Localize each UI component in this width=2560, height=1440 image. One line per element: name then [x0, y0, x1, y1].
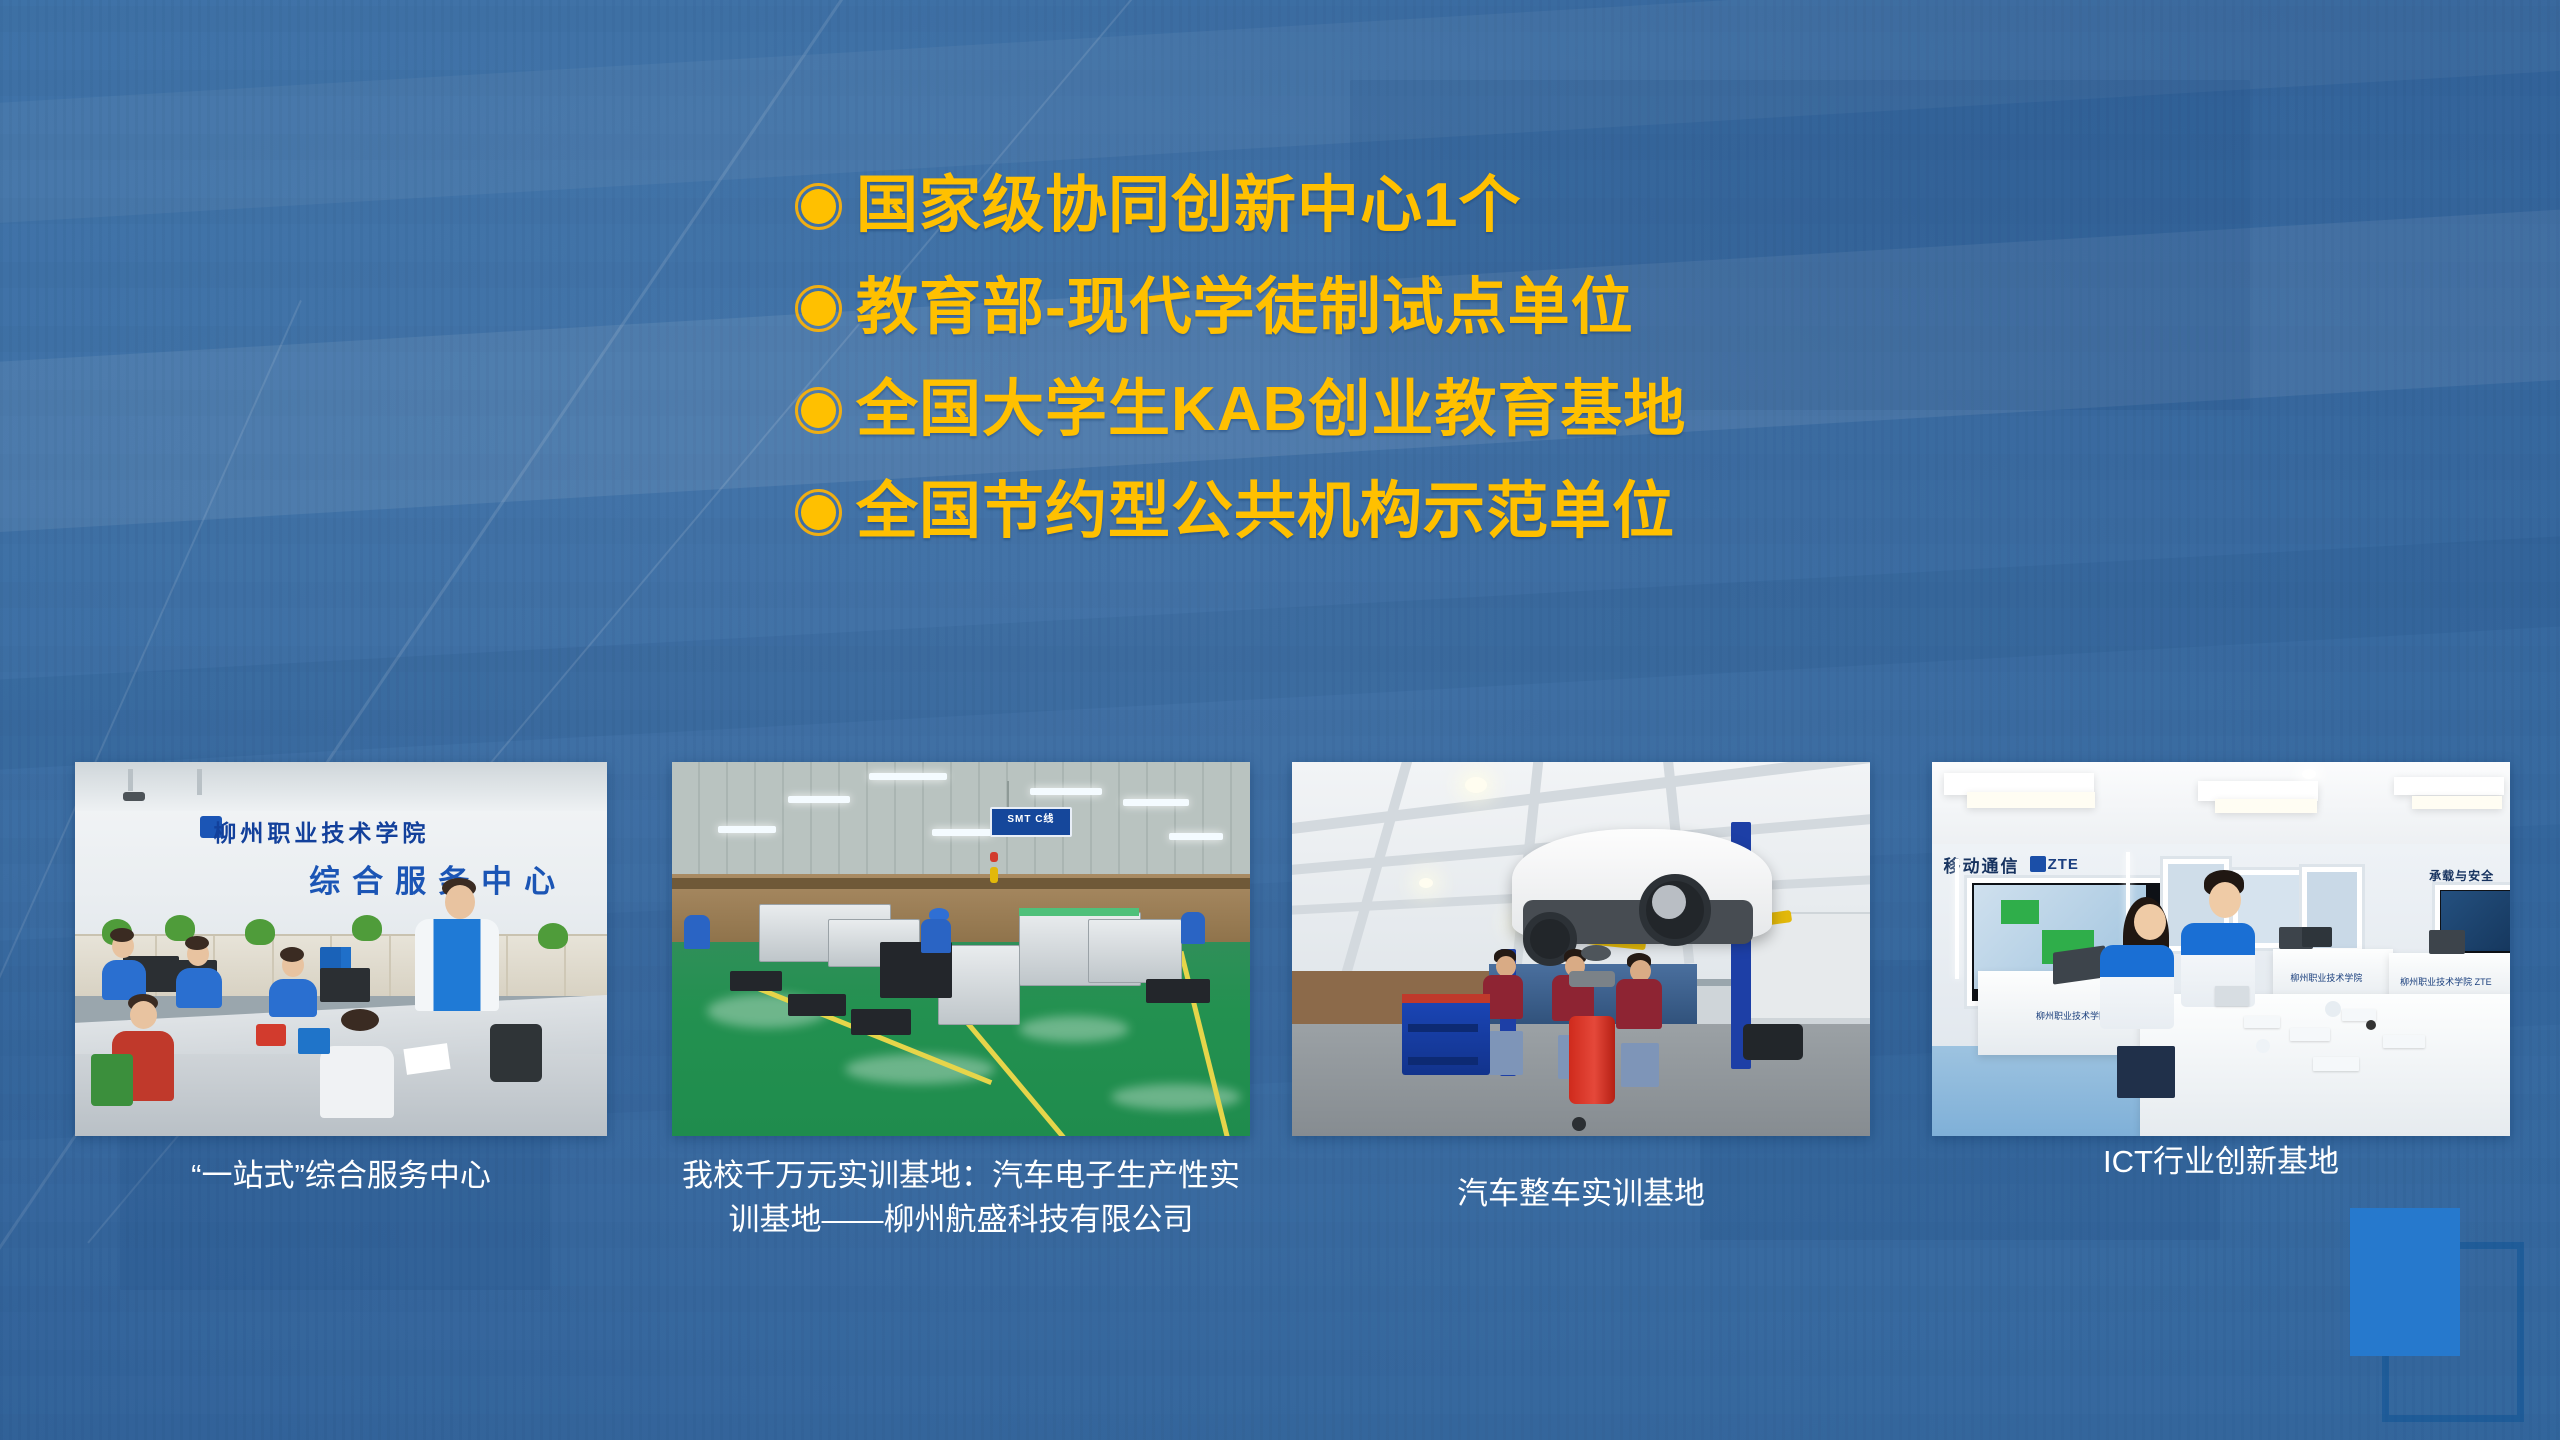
headline-item-4: 全国节约型公共机构示范单位	[795, 461, 2295, 563]
photo-ict-base: 移动通信 ZTE 承载与安全 柳州职业技术学院 ZTE	[1932, 762, 2510, 1136]
headline-item-1: 国家级协同创新中心1个	[795, 155, 2295, 257]
gallery-item-ict-base: 移动通信 ZTE 承载与安全 柳州职业技术学院 ZTE	[1932, 762, 2510, 1136]
ring-bullet-icon	[795, 387, 842, 434]
ring-bullet-icon	[795, 285, 842, 332]
headline-list: 国家级协同创新中心1个 教育部-现代学徒制试点单位 全国大学生KAB创业教育基地…	[795, 155, 2295, 563]
headline-item-2: 教育部-现代学徒制试点单位	[795, 257, 2295, 359]
photo-caption-service-center: “一站式”综合服务中心	[75, 1154, 607, 1198]
ict-brand-sign: ZTE	[2048, 856, 2079, 873]
headline-text-3: 全国大学生KAB创业教育基地	[856, 379, 1686, 441]
photo-gallery: 柳州职业技术学院 综合服务中心	[0, 762, 2560, 1142]
smt-sign-text: SMT C线	[992, 809, 1070, 831]
photo-caption-auto-workshop: 汽车整车实训基地	[1292, 1172, 1870, 1216]
headline-text-1: 国家级协同创新中心1个	[856, 175, 1521, 237]
photo-service-center: 柳州职业技术学院 综合服务中心	[75, 762, 607, 1136]
photo1-sign-line2: 综合服务中心	[309, 856, 567, 901]
gallery-item-service-center: 柳州职业技术学院 综合服务中心	[75, 762, 607, 1136]
gallery-item-smt-factory: SMT C线	[672, 762, 1250, 1136]
decor-solid-square	[2350, 1208, 2460, 1356]
headline-item-3: 全国大学生KAB创业教育基地	[795, 359, 2295, 461]
photo-caption-smt-factory: 我校千万元实训基地：汽车电子生产性实训基地——柳州航盛科技有限公司	[672, 1154, 1250, 1242]
gallery-item-auto-workshop: 汽车整车实训基地	[1292, 762, 1870, 1136]
photo-smt-factory: SMT C线	[672, 762, 1250, 1136]
headline-text-2: 教育部-现代学徒制试点单位	[856, 277, 1634, 339]
headline-text-4: 全国节约型公共机构示范单位	[856, 481, 1675, 543]
smt-hanging-sign: SMT C线	[990, 807, 1072, 837]
photo1-sign-line1: 柳州职业技术学院	[213, 814, 429, 848]
photo-auto-workshop	[1292, 762, 1870, 1136]
ring-bullet-icon	[795, 489, 842, 536]
photo-caption-ict-base: ICT行业创新基地	[1932, 1140, 2510, 1184]
slide-root: 国家级协同创新中心1个 教育部-现代学徒制试点单位 全国大学生KAB创业教育基地…	[0, 0, 2560, 1440]
ring-bullet-icon	[795, 183, 842, 230]
